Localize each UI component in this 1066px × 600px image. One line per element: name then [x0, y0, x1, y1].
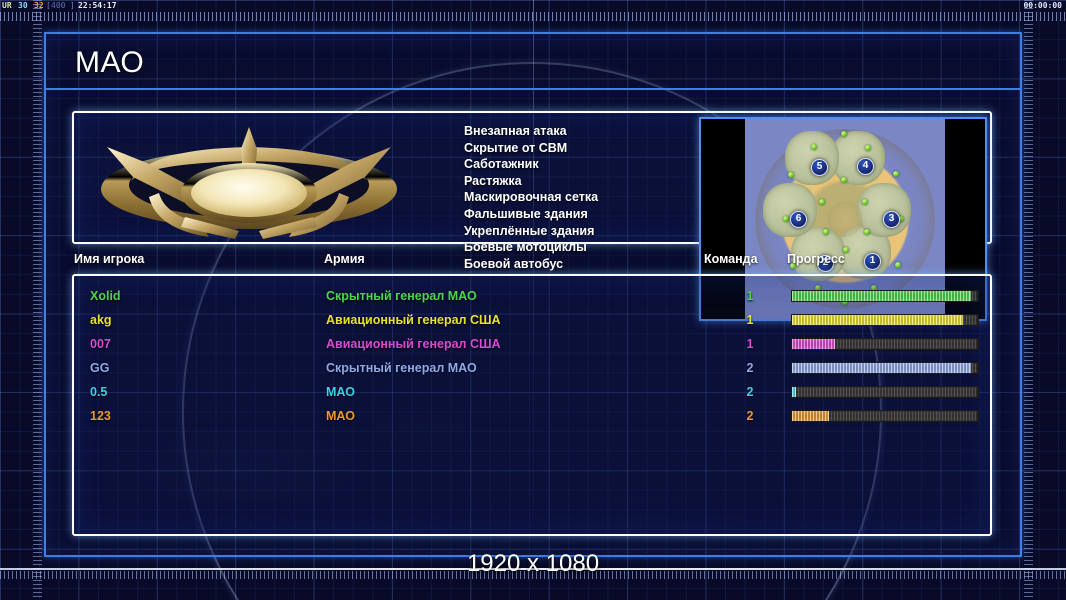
ability-item: Фальшивые здания — [464, 206, 598, 223]
main-window: МАО — [44, 32, 1022, 557]
player-team: 2 — [740, 361, 760, 375]
ruler-right — [1024, 0, 1033, 600]
minimap-start-position[interactable]: 6 — [790, 211, 807, 228]
table-row[interactable]: XolidСкрытный генерал МАО1 — [74, 286, 990, 310]
minimap-resource-dot — [819, 199, 825, 205]
progress-bar — [791, 386, 979, 398]
player-table: XolidСкрытный генерал МАО1akgАвиационный… — [72, 274, 992, 536]
player-name: 123 — [90, 409, 111, 423]
player-team: 2 — [740, 409, 760, 423]
progress-bar — [791, 338, 979, 350]
status-bracket-close: ] — [70, 0, 75, 12]
gla-emblem-icon — [89, 119, 409, 239]
ruler-left — [33, 0, 42, 600]
minimap-lobe — [831, 131, 885, 185]
progress-bar-fill — [792, 291, 971, 301]
minimap-resource-dot — [862, 199, 868, 205]
minimap-lobe — [763, 183, 817, 237]
progress-bar — [791, 410, 979, 422]
ability-item: Скрытие от СВМ — [464, 140, 598, 157]
player-name: Xolid — [90, 289, 121, 303]
progress-bar-fill — [792, 411, 829, 421]
column-header-team: Команда — [704, 252, 758, 266]
status-clock: 22:54:17 — [78, 0, 117, 12]
status-value-1: 30 — [18, 0, 28, 12]
minimap-resource-dot — [841, 177, 847, 183]
resolution-label: 1920 x 1080 — [0, 550, 1066, 578]
minimap-resource-dot — [823, 229, 829, 235]
progress-bar-fill — [792, 339, 835, 349]
minimap-resource-dot — [864, 229, 870, 235]
table-row[interactable]: akgАвиационный генерал США1 — [74, 310, 990, 334]
minimap-center — [827, 201, 863, 237]
column-header-progress: Прогресс — [787, 252, 845, 266]
game-timer: 00:00:00 — [1023, 0, 1062, 12]
player-name: akg — [90, 313, 112, 327]
status-bar: UR 30 32 [ 400 ] 22:54:17 00:00:00 — [0, 0, 1066, 12]
minimap-resource-dot — [865, 145, 871, 151]
faction-info-panel: Внезапная атака Скрытие от СВМ Саботажни… — [72, 111, 992, 244]
ability-item: Укреплённые здания — [464, 223, 598, 240]
player-team: 2 — [740, 385, 760, 399]
player-army: МАО — [326, 409, 355, 423]
status-value-3: 400 — [51, 0, 65, 12]
column-header-army: Армия — [324, 252, 365, 266]
player-team: 1 — [740, 337, 760, 351]
minimap-start-position[interactable]: 5 — [811, 159, 828, 176]
ruler-top — [0, 12, 1066, 21]
progress-bar — [791, 362, 979, 374]
progress-bar-fill — [792, 315, 963, 325]
minimap-start-position[interactable]: 3 — [883, 211, 900, 228]
player-name: 0.5 — [90, 385, 107, 399]
ability-item: Маскировочная сетка — [464, 189, 598, 206]
minimap-resource-dot — [893, 171, 899, 177]
player-name: GG — [90, 361, 109, 375]
minimap-start-position[interactable]: 4 — [857, 158, 874, 175]
table-row[interactable]: 123МАО2 — [74, 406, 990, 430]
minimap-resource-dot — [783, 216, 789, 222]
title-bar: МАО — [46, 34, 1020, 90]
minimap-resource-dot — [788, 172, 794, 178]
page-title: МАО — [75, 46, 144, 80]
table-header: Имя игрока Армия Команда Прогресс — [72, 252, 992, 272]
ability-item: Растяжка — [464, 173, 598, 190]
progress-bar — [791, 290, 979, 302]
player-army: Авиационный генерал США — [326, 313, 501, 327]
table-row[interactable]: 007Авиационный генерал США1 — [74, 334, 990, 358]
table-row[interactable]: GGСкрытный генерал МАО2 — [74, 358, 990, 382]
player-army: Скрытный генерал МАО — [326, 361, 477, 375]
ability-item: Внезапная атака — [464, 123, 598, 140]
column-header-name: Имя игрока — [74, 252, 144, 266]
progress-bar-fill — [792, 363, 971, 373]
player-army: МАО — [326, 385, 355, 399]
progress-bar-fill — [792, 387, 796, 397]
minimap-resource-dot — [811, 144, 817, 150]
player-team: 1 — [740, 289, 760, 303]
ability-item: Саботажник — [464, 156, 598, 173]
faction-emblem — [89, 119, 409, 239]
player-team: 1 — [740, 313, 760, 327]
minimap-resource-dot — [841, 131, 847, 137]
player-army: Авиационный генерал США — [326, 337, 501, 351]
progress-bar — [791, 314, 979, 326]
ability-list: Внезапная атака Скрытие от СВМ Саботажни… — [464, 123, 598, 272]
status-value-2: 32 — [34, 0, 44, 12]
status-label: UR — [2, 0, 12, 12]
table-row[interactable]: 0.5МАО2 — [74, 382, 990, 406]
player-army: Скрытный генерал МАО — [326, 289, 477, 303]
player-name: 007 — [90, 337, 111, 351]
